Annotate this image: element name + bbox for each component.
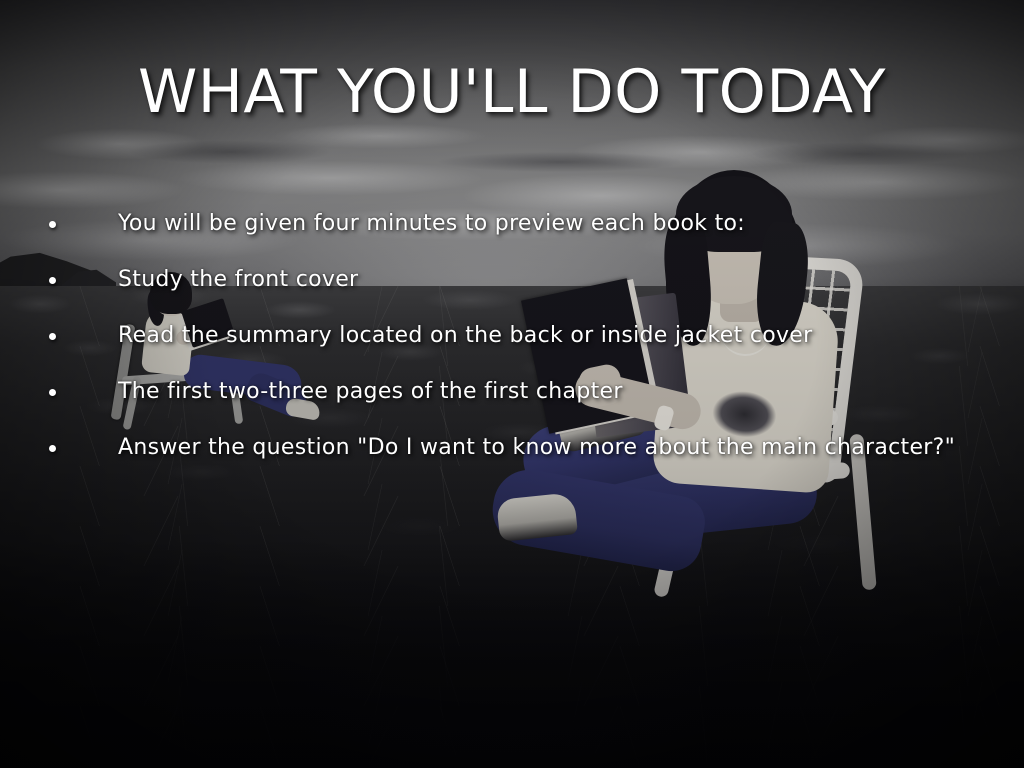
bullet-text-3: Read the summary located on the back or … bbox=[118, 324, 813, 348]
bullet-item-2: Study the front cover bbox=[46, 252, 1006, 308]
bullet-text-5: Answer the question "Do I want to know m… bbox=[118, 436, 955, 460]
bullet-dot-icon bbox=[49, 445, 56, 452]
bullet-item-5: Answer the question "Do I want to know m… bbox=[46, 420, 1006, 476]
bullet-text-1: You will be given four minutes to previe… bbox=[118, 212, 745, 236]
slide-title: WHAT YOU'LL DO TODAY bbox=[0, 62, 1024, 122]
bullet-dot-icon bbox=[49, 221, 56, 228]
bullet-item-3: Read the summary located on the back or … bbox=[46, 308, 1006, 364]
slide-content: WHAT YOU'LL DO TODAY You will be given f… bbox=[0, 0, 1024, 768]
bullet-list: You will be given four minutes to previe… bbox=[46, 196, 1006, 476]
bullet-dot-icon bbox=[49, 277, 56, 284]
bullet-text-4: The first two-three pages of the first c… bbox=[118, 380, 623, 404]
bullet-dot-icon bbox=[49, 389, 56, 396]
bullet-dot-icon bbox=[49, 333, 56, 340]
bullet-text-2: Study the front cover bbox=[118, 268, 358, 292]
bullet-item-1: You will be given four minutes to previe… bbox=[46, 196, 1006, 252]
presentation-slide: WHAT YOU'LL DO TODAY You will be given f… bbox=[0, 0, 1024, 768]
bullet-item-4: The first two-three pages of the first c… bbox=[46, 364, 1006, 420]
